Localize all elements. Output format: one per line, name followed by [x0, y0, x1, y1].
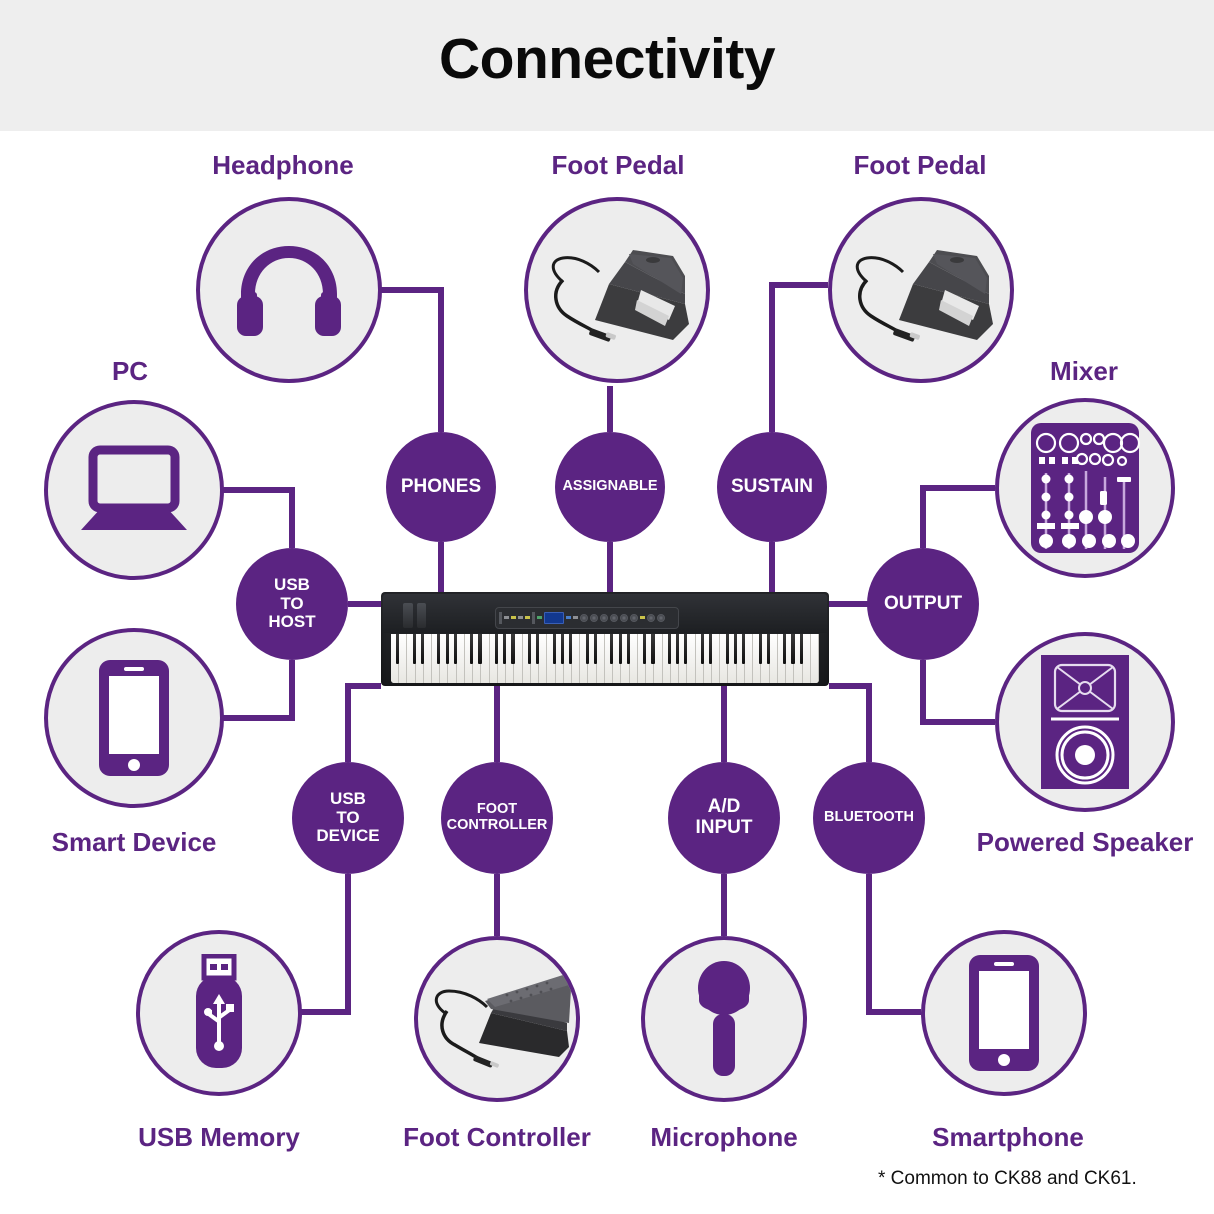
foot-pedal-photo — [533, 220, 701, 360]
device-powered-speaker[interactable] — [995, 632, 1175, 812]
piano-black-key[interactable] — [413, 634, 416, 664]
piano-white-key[interactable] — [399, 634, 407, 683]
piano-white-key[interactable] — [514, 634, 522, 683]
piano-black-key[interactable] — [586, 634, 589, 664]
panel-button[interactable] — [504, 616, 509, 619]
piano-black-key[interactable] — [734, 634, 737, 664]
piano-black-key[interactable] — [561, 634, 564, 664]
piano-black-key[interactable] — [495, 634, 498, 664]
control-panel[interactable] — [495, 607, 679, 629]
piano-white-key[interactable] — [803, 634, 811, 683]
port-bluetooth[interactable]: BLUETOOTH — [813, 762, 925, 874]
port-label-usb-to-device-line3: DEVICE — [316, 827, 379, 845]
foot-controller-photo — [421, 955, 573, 1083]
mod-wheel[interactable] — [417, 603, 426, 627]
piano-black-key[interactable] — [553, 634, 556, 664]
piano-black-key[interactable] — [651, 634, 654, 664]
port-label-usb-to-host-line1: USB — [274, 576, 310, 594]
panel-button[interactable] — [511, 616, 516, 619]
device-label-foot-pedal-left: Foot Pedal — [518, 150, 718, 181]
piano-black-key[interactable] — [676, 634, 679, 664]
piano-black-key[interactable] — [668, 634, 671, 664]
headphone-icon — [229, 236, 349, 344]
piano-black-key[interactable] — [619, 634, 622, 664]
smartphone-icon — [967, 953, 1041, 1073]
mixer-icon — [1029, 421, 1141, 555]
piano-black-key[interactable] — [742, 634, 745, 664]
port-label-assignable: ASSIGNABLE — [562, 479, 657, 495]
port-label-output: OUTPUT — [884, 594, 962, 615]
piano-black-key[interactable] — [536, 634, 539, 664]
piano-white-key[interactable] — [457, 634, 465, 683]
panel-knob[interactable] — [630, 614, 638, 622]
piano-black-key[interactable] — [446, 634, 449, 664]
piano-black-key[interactable] — [759, 634, 762, 664]
piano-black-key[interactable] — [627, 634, 630, 664]
pitch-wheel[interactable] — [403, 603, 412, 627]
panel-knob[interactable] — [590, 614, 598, 622]
piano-black-key[interactable] — [800, 634, 803, 664]
microphone-icon — [690, 958, 758, 1080]
piano-black-key[interactable] — [437, 634, 440, 664]
port-output[interactable]: OUTPUT — [867, 548, 979, 660]
port-label-ad-input-line2: INPUT — [696, 818, 753, 839]
pitch-mod-wheels[interactable] — [403, 603, 425, 627]
piano-keys[interactable] — [391, 634, 819, 683]
ck88-keyboard[interactable]: YAMAHA CK88 — [381, 592, 829, 686]
piano-black-key[interactable] — [684, 634, 687, 664]
speaker-icon — [1039, 653, 1131, 791]
panel-slider[interactable] — [499, 612, 502, 623]
device-microphone[interactable] — [641, 936, 807, 1102]
piano-white-key[interactable] — [770, 634, 778, 683]
port-label-usb-to-device-line2: TO — [336, 809, 359, 827]
foot-pedal-photo — [837, 220, 1005, 360]
piano-black-key[interactable] — [478, 634, 481, 664]
piano-white-key[interactable] — [712, 634, 720, 683]
port-label-bluetooth: BLUETOOTH — [824, 810, 914, 826]
laptop-icon — [75, 444, 193, 536]
piano-white-key[interactable] — [597, 634, 605, 683]
panel-button[interactable] — [640, 616, 645, 619]
piano-black-key[interactable] — [421, 634, 424, 664]
piano-black-key[interactable] — [783, 634, 786, 664]
port-foot-controller[interactable]: FOOT CONTROLLER — [441, 762, 553, 874]
panel-knob[interactable] — [580, 614, 588, 622]
port-label-foot-controller-line2: CONTROLLER — [447, 818, 548, 834]
port-sustain[interactable]: SUSTAIN — [717, 432, 827, 542]
piano-white-key[interactable] — [654, 634, 662, 683]
port-label-foot-controller-line1: FOOT — [477, 802, 517, 818]
piano-white-key[interactable] — [424, 634, 432, 683]
piano-black-key[interactable] — [791, 634, 794, 664]
piano-white-key[interactable] — [745, 634, 753, 683]
device-label-mixer: Mixer — [991, 356, 1177, 387]
port-label-ad-input-line1: A/D — [708, 797, 741, 818]
piano-black-key[interactable] — [470, 634, 473, 664]
device-label-foot-pedal-right: Foot Pedal — [820, 150, 1020, 181]
piano-black-key[interactable] — [767, 634, 770, 664]
device-foot-pedal-right[interactable] — [828, 197, 1014, 383]
smartphone-icon — [97, 658, 171, 778]
panel-button[interactable] — [525, 616, 530, 619]
panel-button[interactable] — [537, 616, 542, 619]
piano-white-key[interactable] — [630, 634, 638, 683]
device-smartphone[interactable] — [921, 930, 1087, 1096]
lcd-display — [544, 612, 564, 624]
device-mixer[interactable] — [995, 398, 1175, 578]
panel-knob[interactable] — [620, 614, 628, 622]
piano-black-key[interactable] — [396, 634, 399, 664]
panel-button[interactable] — [566, 616, 571, 619]
device-label-microphone: Microphone — [634, 1122, 814, 1153]
panel-knob[interactable] — [647, 614, 655, 622]
piano-black-key[interactable] — [569, 634, 572, 664]
piano-black-key[interactable] — [528, 634, 531, 664]
device-label-pc: PC — [37, 356, 223, 387]
device-smart-device[interactable] — [44, 628, 224, 808]
device-pc[interactable] — [44, 400, 224, 580]
device-headphone[interactable] — [196, 197, 382, 383]
device-label-headphone: Headphone — [183, 150, 383, 181]
piano-black-key[interactable] — [709, 634, 712, 664]
device-usb-memory[interactable] — [136, 930, 302, 1096]
footnote: * Common to CK88 and CK61. — [878, 1168, 1137, 1190]
port-label-phones: PHONES — [401, 477, 481, 498]
device-label-powered-speaker: Powered Speaker — [960, 827, 1210, 858]
piano-black-key[interactable] — [726, 634, 729, 664]
port-label-usb-to-host-line3: HOST — [268, 613, 315, 631]
device-foot-controller[interactable] — [414, 936, 580, 1102]
panel-slider[interactable] — [532, 612, 535, 623]
usb-drive-icon — [186, 954, 252, 1072]
piano-black-key[interactable] — [643, 634, 646, 664]
device-label-smartphone: Smartphone — [913, 1122, 1103, 1153]
port-ad-input[interactable]: A/D INPUT — [668, 762, 780, 874]
piano-white-key[interactable] — [572, 634, 580, 683]
panel-button[interactable] — [518, 616, 523, 619]
device-label-foot-controller: Foot Controller — [382, 1122, 612, 1153]
port-label-usb-to-device-line1: USB — [330, 790, 366, 808]
piano-black-key[interactable] — [454, 634, 457, 664]
port-assignable[interactable]: ASSIGNABLE — [555, 432, 665, 542]
piano-black-key[interactable] — [594, 634, 597, 664]
panel-button[interactable] — [573, 616, 578, 619]
piano-white-key[interactable] — [481, 634, 489, 683]
piano-black-key[interactable] — [503, 634, 506, 664]
piano-white-key[interactable] — [811, 634, 819, 683]
port-usb-to-device[interactable]: USB TO DEVICE — [292, 762, 404, 874]
panel-knob[interactable] — [657, 614, 665, 622]
device-foot-pedal-left[interactable] — [524, 197, 710, 383]
piano-white-key[interactable] — [687, 634, 695, 683]
port-phones[interactable]: PHONES — [386, 432, 496, 542]
piano-white-key[interactable] — [539, 634, 547, 683]
piano-black-key[interactable] — [511, 634, 514, 664]
piano-black-key[interactable] — [610, 634, 613, 664]
panel-knob[interactable] — [600, 614, 608, 622]
piano-black-key[interactable] — [701, 634, 704, 664]
panel-knob[interactable] — [610, 614, 618, 622]
device-label-usb-memory: USB Memory — [119, 1122, 319, 1153]
port-label-sustain: SUSTAIN — [731, 477, 813, 498]
port-usb-to-host[interactable]: USB TO HOST — [236, 548, 348, 660]
port-label-usb-to-host-line2: TO — [280, 595, 303, 613]
device-label-smart-device: Smart Device — [29, 827, 239, 858]
